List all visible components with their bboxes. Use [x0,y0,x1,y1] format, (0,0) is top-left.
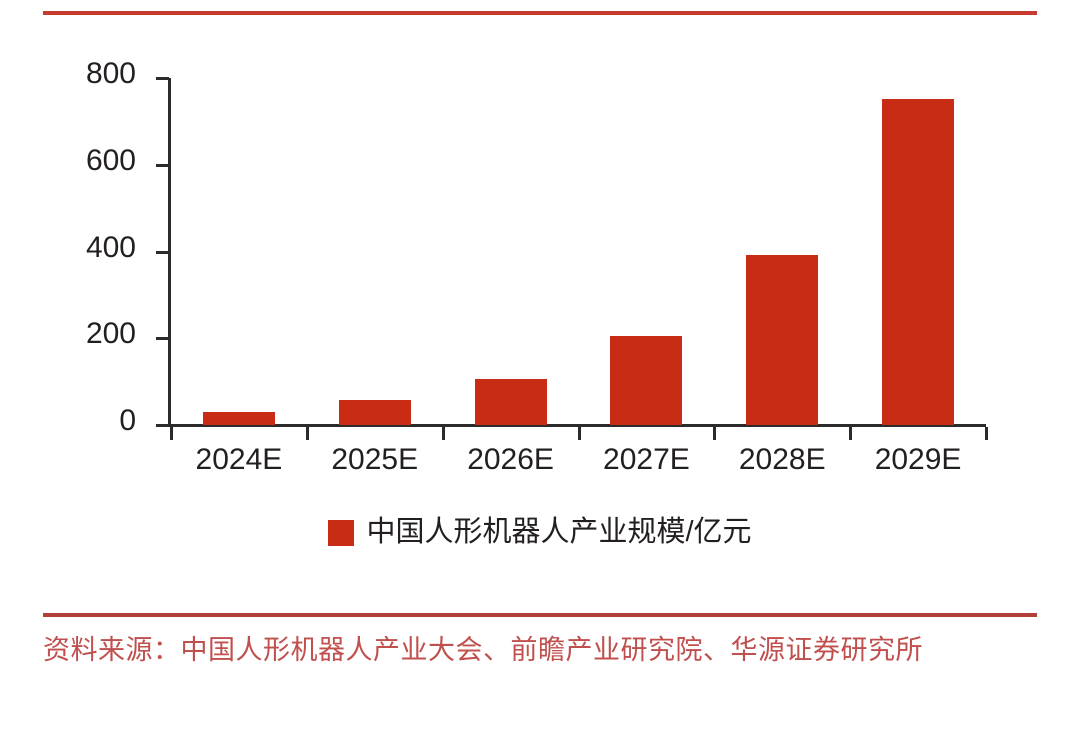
chart-legend: 中国人形机器人产业规模/亿元 [0,518,1080,547]
bottom-divider-rule [43,613,1037,617]
y-axis-tick-label: 0 [44,404,136,438]
bar [610,336,682,425]
bar [882,99,954,425]
x-axis-tick [306,427,309,440]
bar [203,412,275,425]
x-axis-tick [713,427,716,440]
x-axis-category-label: 2029E [850,443,986,477]
x-axis-category-label: 2026E [443,443,579,477]
x-axis-tick [985,427,988,440]
bar [746,255,818,425]
x-axis-category-label: 2028E [714,443,850,477]
x-axis-tick [849,427,852,440]
y-axis-tick-label: 200 [44,317,136,351]
bar-chart: 0200400600800 2024E2025E2026E2027E2028E2… [0,0,1080,600]
y-axis-tick [156,337,169,340]
x-axis-tick [578,427,581,440]
legend-label: 中国人形机器人产业规模/亿元 [366,518,751,547]
y-axis-tick [156,251,169,254]
bar [339,400,411,425]
x-axis-category-label: 2024E [171,443,307,477]
source-note: 资料来源：中国人形机器人产业大会、前瞻产业研究院、华源证券研究所 [43,630,1028,672]
x-axis-tick [170,427,173,440]
x-axis-tick [442,427,445,440]
bars-layer [171,78,986,425]
y-axis-tick [156,164,169,167]
y-axis-tick-label: 800 [44,57,136,91]
x-axis-category-label: 2027E [579,443,715,477]
y-axis-tick-label: 600 [44,144,136,178]
y-axis-tick [156,77,169,80]
bar [475,379,547,425]
x-axis-category-label: 2025E [307,443,443,477]
y-axis-tick-label: 400 [44,231,136,265]
legend-color-swatch [328,520,354,546]
